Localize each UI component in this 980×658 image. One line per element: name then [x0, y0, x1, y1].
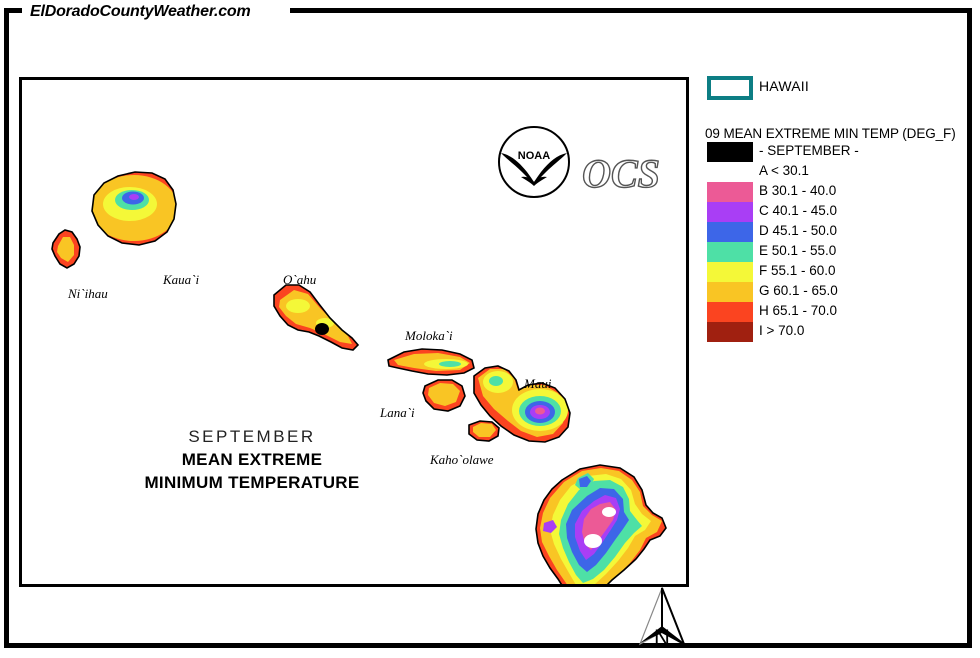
legend-row: F 55.1 - 60.0 [703, 262, 971, 282]
map-title-line1: MEAN EXTREME [92, 448, 412, 471]
legend-swatch [707, 162, 753, 182]
legend-label: D 45.1 - 50.0 [759, 223, 837, 238]
legend-swatch [707, 142, 753, 162]
legend-label: B 30.1 - 40.0 [759, 183, 836, 198]
island-oahu [274, 285, 358, 350]
legend-label: A < 30.1 [759, 163, 809, 178]
noaa-logo-text: NOAA [518, 150, 550, 162]
legend-row: H 65.1 - 70.0 [703, 302, 971, 322]
north-arrow-label: N [634, 626, 690, 650]
legend-label: G 60.1 - 65.0 [759, 283, 838, 298]
island-hawaii [536, 465, 666, 584]
noaa-logo: NOAA [497, 125, 571, 199]
ocs-logo-text: OCS [582, 151, 660, 196]
legend-swatch [707, 302, 753, 322]
map-title-month: SEPTEMBER [92, 425, 412, 448]
legend-label: - SEPTEMBER - [759, 143, 859, 158]
legend-area-swatch [707, 76, 753, 100]
island-label-oahu: O`ahu [283, 272, 316, 288]
island-niihau [52, 230, 80, 268]
legend-label: F 55.1 - 60.0 [759, 263, 836, 278]
map-frame: Ni`ihau Kaua`i O`ahu Moloka`i Lana`i Mau… [19, 77, 689, 587]
legend-area-label: HAWAII [759, 78, 809, 94]
legend-area-key: HAWAII [703, 74, 971, 108]
legend-label: C 40.1 - 45.0 [759, 203, 837, 218]
legend-swatch [707, 222, 753, 242]
island-kauai [90, 172, 178, 245]
island-label-niihau: Ni`ihau [68, 286, 108, 302]
island-label-kahoolawe: Kaho`olawe [430, 452, 494, 468]
map-title-block: SEPTEMBER MEAN EXTREME MINIMUM TEMPERATU… [92, 425, 412, 494]
legend-swatch [707, 322, 753, 342]
island-kahoolawe [469, 421, 499, 441]
legend-swatch [707, 182, 753, 202]
island-label-molokai: Moloka`i [405, 328, 453, 344]
island-label-kauai: Kaua`i [163, 272, 199, 288]
island-label-lanai: Lana`i [380, 405, 415, 421]
legend-title: 09 MEAN EXTREME MIN TEMP (DEG_F) [705, 126, 971, 141]
legend-classes: 09 MEAN EXTREME MIN TEMP (DEG_F) - SEPTE… [703, 126, 971, 342]
legend-label: E 50.1 - 55.0 [759, 243, 836, 258]
legend-row: I > 70.0 [703, 322, 971, 342]
map-title-line2: MINIMUM TEMPERATURE [92, 471, 412, 494]
legend-row: G 60.1 - 65.0 [703, 282, 971, 302]
island-molokai [388, 349, 474, 375]
site-title: ElDoradoCountyWeather.com [30, 2, 251, 22]
island-lanai [423, 380, 465, 411]
legend-row: - SEPTEMBER - [703, 142, 971, 162]
legend-row: D 45.1 - 50.0 [703, 222, 971, 242]
legend-swatch [707, 262, 753, 282]
legend-swatch [707, 282, 753, 302]
legend-row: E 50.1 - 55.0 [703, 242, 971, 262]
legend-row: C 40.1 - 45.0 [703, 202, 971, 222]
island-label-hawaii: Hawai`i [480, 582, 523, 587]
ocs-logo: OCS [578, 147, 664, 199]
legend-row: A < 30.1 [703, 162, 971, 182]
island-label-maui: Maui [524, 376, 551, 392]
legend-swatch [707, 242, 753, 262]
legend: HAWAII 09 MEAN EXTREME MIN TEMP (DEG_F) … [703, 74, 971, 108]
legend-label: I > 70.0 [759, 323, 804, 338]
legend-swatch [707, 202, 753, 222]
legend-label: H 65.1 - 70.0 [759, 303, 837, 318]
legend-row: B 30.1 - 40.0 [703, 182, 971, 202]
